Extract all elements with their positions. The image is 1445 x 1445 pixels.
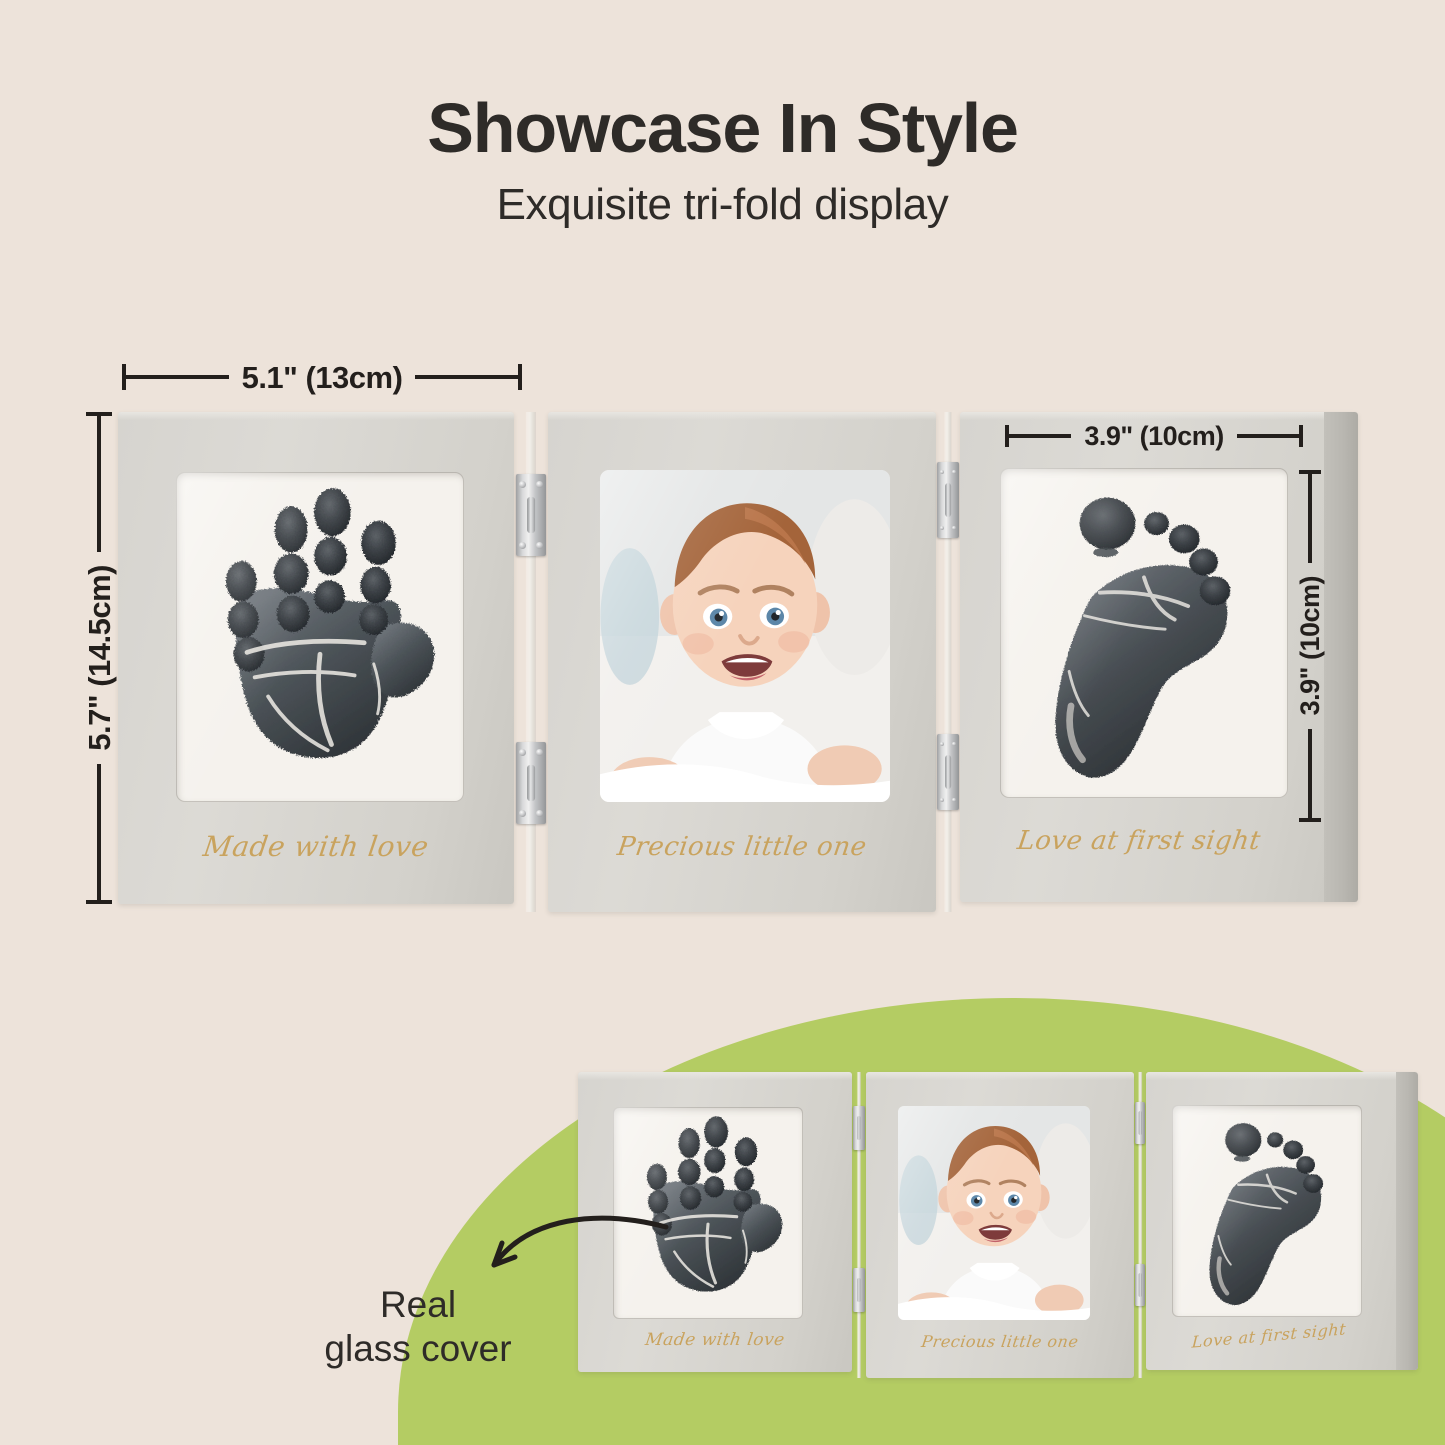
panel-caption-3: Love at first sight xyxy=(972,826,1306,856)
page-subtitle: Exquisite tri-fold display xyxy=(0,180,1445,230)
panel-caption-3-small: Love at first sight xyxy=(1155,1316,1384,1355)
panel-caption-1-small: Made with love xyxy=(578,1330,852,1350)
dim-bar-top xyxy=(1308,474,1312,563)
hinge-lower-right-small xyxy=(1135,1264,1145,1306)
dim-bar-left xyxy=(126,375,229,379)
callout-line-2: glass cover xyxy=(300,1327,536,1371)
dimension-label-window-height: 3.9" (10cm) xyxy=(1297,563,1324,728)
frame-panel-footprint-small: Love at first sight xyxy=(1146,1072,1418,1370)
baby-photo-small xyxy=(898,1106,1090,1320)
hinge-left-small xyxy=(852,1072,866,1378)
hinge-right xyxy=(936,412,960,912)
dim-cap-right xyxy=(1299,425,1303,447)
frame-side-edge xyxy=(1324,412,1358,902)
dimension-window-width: 3.9" (10cm) xyxy=(1005,422,1303,450)
frame-panel-handprint: Made with love xyxy=(118,412,514,904)
panel-caption-2-small: Precious little one xyxy=(866,1332,1134,1351)
page-title: Showcase In Style xyxy=(0,92,1445,166)
frame-side-edge-small xyxy=(1396,1072,1418,1370)
footprint-window xyxy=(1000,468,1288,798)
hinge-lower-right xyxy=(937,734,959,810)
hinge-upper xyxy=(516,474,546,556)
dim-cap-bottom xyxy=(86,900,112,904)
marketing-canvas: Showcase In Style Exquisite tri-fold dis… xyxy=(0,0,1445,1445)
dim-cap-bottom xyxy=(1299,818,1321,822)
dim-bar-right xyxy=(1237,434,1299,438)
dim-bar-bottom xyxy=(97,764,101,900)
footprint-artwork xyxy=(1000,468,1288,798)
footprint-window-small xyxy=(1172,1105,1362,1317)
hinge-upper-right-small xyxy=(1135,1102,1145,1144)
dimension-label-window-width: 3.9" (10cm) xyxy=(1071,423,1236,450)
frame-panel-photo-small: Precious little one xyxy=(866,1072,1134,1378)
callout-line-1: Real xyxy=(300,1283,536,1327)
photo-window xyxy=(600,470,890,802)
baby-photo xyxy=(600,470,890,802)
panel-caption-2: Precious little one xyxy=(548,832,936,862)
hinge-left xyxy=(514,412,548,912)
panel-caption-1: Made with love xyxy=(118,830,514,863)
dim-cap-right xyxy=(518,364,522,390)
handprint-artwork xyxy=(176,472,464,802)
dimension-panel-width: 5.1" (13cm) xyxy=(122,362,522,392)
footprint-artwork-small xyxy=(1172,1105,1362,1317)
dim-bar-top xyxy=(97,416,101,552)
dimension-window-height: 3.9" (10cm) xyxy=(1296,470,1324,822)
trifold-frame-main: Made with love xyxy=(118,412,1358,912)
photo-window-small xyxy=(898,1106,1090,1320)
dimension-label-panel-width: 5.1" (13cm) xyxy=(229,362,416,393)
hinge-lower xyxy=(516,742,546,824)
hinge-upper-right xyxy=(937,462,959,538)
hinge-lower-small xyxy=(853,1268,865,1312)
frame-panel-photo: Precious little one xyxy=(548,412,936,912)
trifold-frame-secondary: Made with love Precious little one xyxy=(578,1072,1418,1378)
dimension-label-panel-height: 5.7" (14.5cm) xyxy=(84,552,115,764)
hinge-right-small xyxy=(1134,1072,1146,1378)
hinge-upper-small xyxy=(853,1106,865,1150)
dim-bar-right xyxy=(415,375,518,379)
dim-bar-left xyxy=(1009,434,1071,438)
handprint-window xyxy=(176,472,464,802)
callout-glass-cover: Real glass cover xyxy=(300,1283,536,1370)
dimension-panel-height: 5.7" (14.5cm) xyxy=(84,412,114,904)
dim-bar-bottom xyxy=(1308,729,1312,818)
